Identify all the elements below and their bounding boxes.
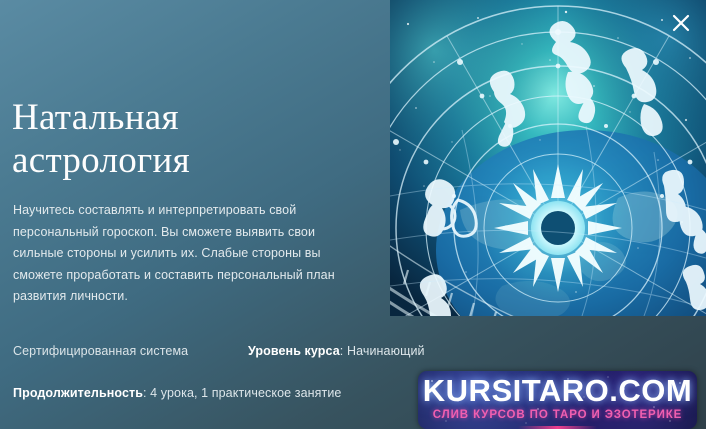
course-level: Уровень курса: Начинающий bbox=[248, 344, 425, 358]
hero-zodiac-image bbox=[390, 0, 706, 316]
watermark-banner: KURSITARO.COM СЛИВ КУРСОВ ПО ТАРО И ЭЗОТ… bbox=[418, 371, 697, 429]
course-level-label: Уровень курса bbox=[248, 344, 340, 358]
course-card-modal: Натальная астрология Научитесь составлят… bbox=[0, 0, 706, 429]
watermark-title: KURSITARO.COM bbox=[418, 373, 697, 409]
sun-emblem bbox=[494, 164, 622, 292]
course-description: Научитесь составлять и интерпретировать … bbox=[13, 200, 345, 308]
course-duration: Продолжительность: 4 урока, 1 практическ… bbox=[13, 386, 341, 400]
course-level-value: : Начинающий bbox=[340, 344, 425, 358]
page-title: Натальная астрология bbox=[12, 96, 372, 182]
course-info-panel: Натальная астрология Научитесь составлят… bbox=[0, 0, 400, 429]
course-duration-label: Продолжительность bbox=[13, 386, 143, 400]
close-icon bbox=[668, 10, 694, 36]
close-button[interactable] bbox=[668, 10, 694, 36]
certification-label: Сертифицированная система bbox=[13, 344, 188, 358]
course-duration-value: : 4 урока, 1 практическое занятие bbox=[143, 386, 341, 400]
zodiac-wheel-illustration bbox=[390, 0, 706, 316]
watermark-subtitle: СЛИВ КУРСОВ ПО ТАРО И ЭЗОТЕРИКЕ bbox=[418, 409, 697, 421]
